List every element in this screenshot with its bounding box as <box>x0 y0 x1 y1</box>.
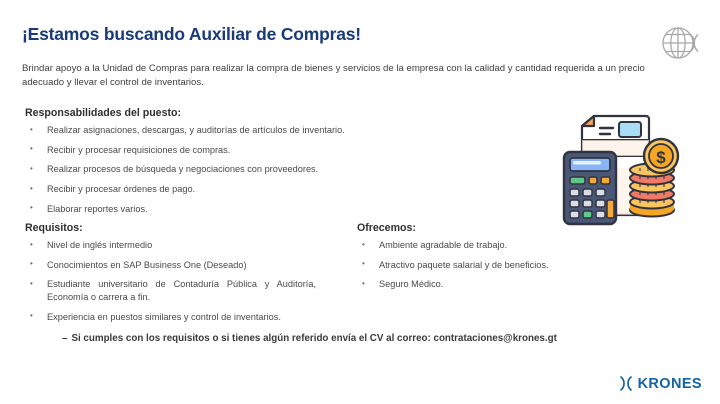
list-item: Realizar asignaciones, descargas, y audi… <box>25 124 455 137</box>
job-posting-slide: ¡Estamos buscando Auxiliar de Compras! B… <box>0 0 720 404</box>
list-item: Nivel de inglés intermedio <box>25 239 330 252</box>
accounting-illustration: $ <box>560 112 695 230</box>
offers-list: Ambiente agradable de trabajo. Atractivo… <box>357 239 657 291</box>
calculator <box>564 152 616 224</box>
responsibilities-list: Realizar asignaciones, descargas, y audi… <box>25 124 455 215</box>
krones-logo: KRONES <box>618 375 702 392</box>
list-item: Ambiente agradable de trabajo. <box>357 239 657 252</box>
globe-icon <box>658 20 704 66</box>
list-item: Conocimientos en SAP Business One (Desea… <box>25 259 330 272</box>
krones-arcs-icon <box>618 375 634 392</box>
requirements-list: Nivel de inglés intermedio Conocimientos… <box>25 239 330 323</box>
list-item: Recibir y procesar órdenes de pago. <box>25 183 455 196</box>
list-item: Atractivo paquete salarial y de benefici… <box>357 259 657 272</box>
requirements-heading: Requisitos: <box>25 222 330 234</box>
page-title: ¡Estamos buscando Auxiliar de Compras! <box>22 24 361 45</box>
job-summary-text: Brindar apoyo a la Unidad de Compras par… <box>22 62 684 89</box>
list-item: Estudiante universitario de Contaduría P… <box>25 278 330 303</box>
list-item: Realizar procesos de búsqueda y negociac… <box>25 163 455 176</box>
cta-text: Si cumples con los requisitos o si tiene… <box>71 333 556 344</box>
dollar-coin: $ <box>644 139 678 173</box>
responsibilities-section: Responsabilidades del puesto: Realizar a… <box>25 107 455 222</box>
offers-section: Ofrecemos: Ambiente agradable de trabajo… <box>357 222 657 298</box>
svg-text:$: $ <box>656 148 666 167</box>
requirements-section: Requisitos: Nivel de inglés intermedio C… <box>25 222 330 330</box>
list-item: Seguro Médico. <box>357 278 657 291</box>
responsibilities-heading: Responsabilidades del puesto: <box>25 107 455 119</box>
list-item: Experiencia en puestos similares y contr… <box>25 311 330 324</box>
cta-dash: – <box>62 333 67 344</box>
call-to-action: –Si cumples con los requisitos o si tien… <box>62 333 557 344</box>
list-item: Recibir y procesar requisiciones de comp… <box>25 144 455 157</box>
list-item: Elaborar reportes varios. <box>25 203 455 216</box>
krones-wordmark: KRONES <box>638 376 702 392</box>
